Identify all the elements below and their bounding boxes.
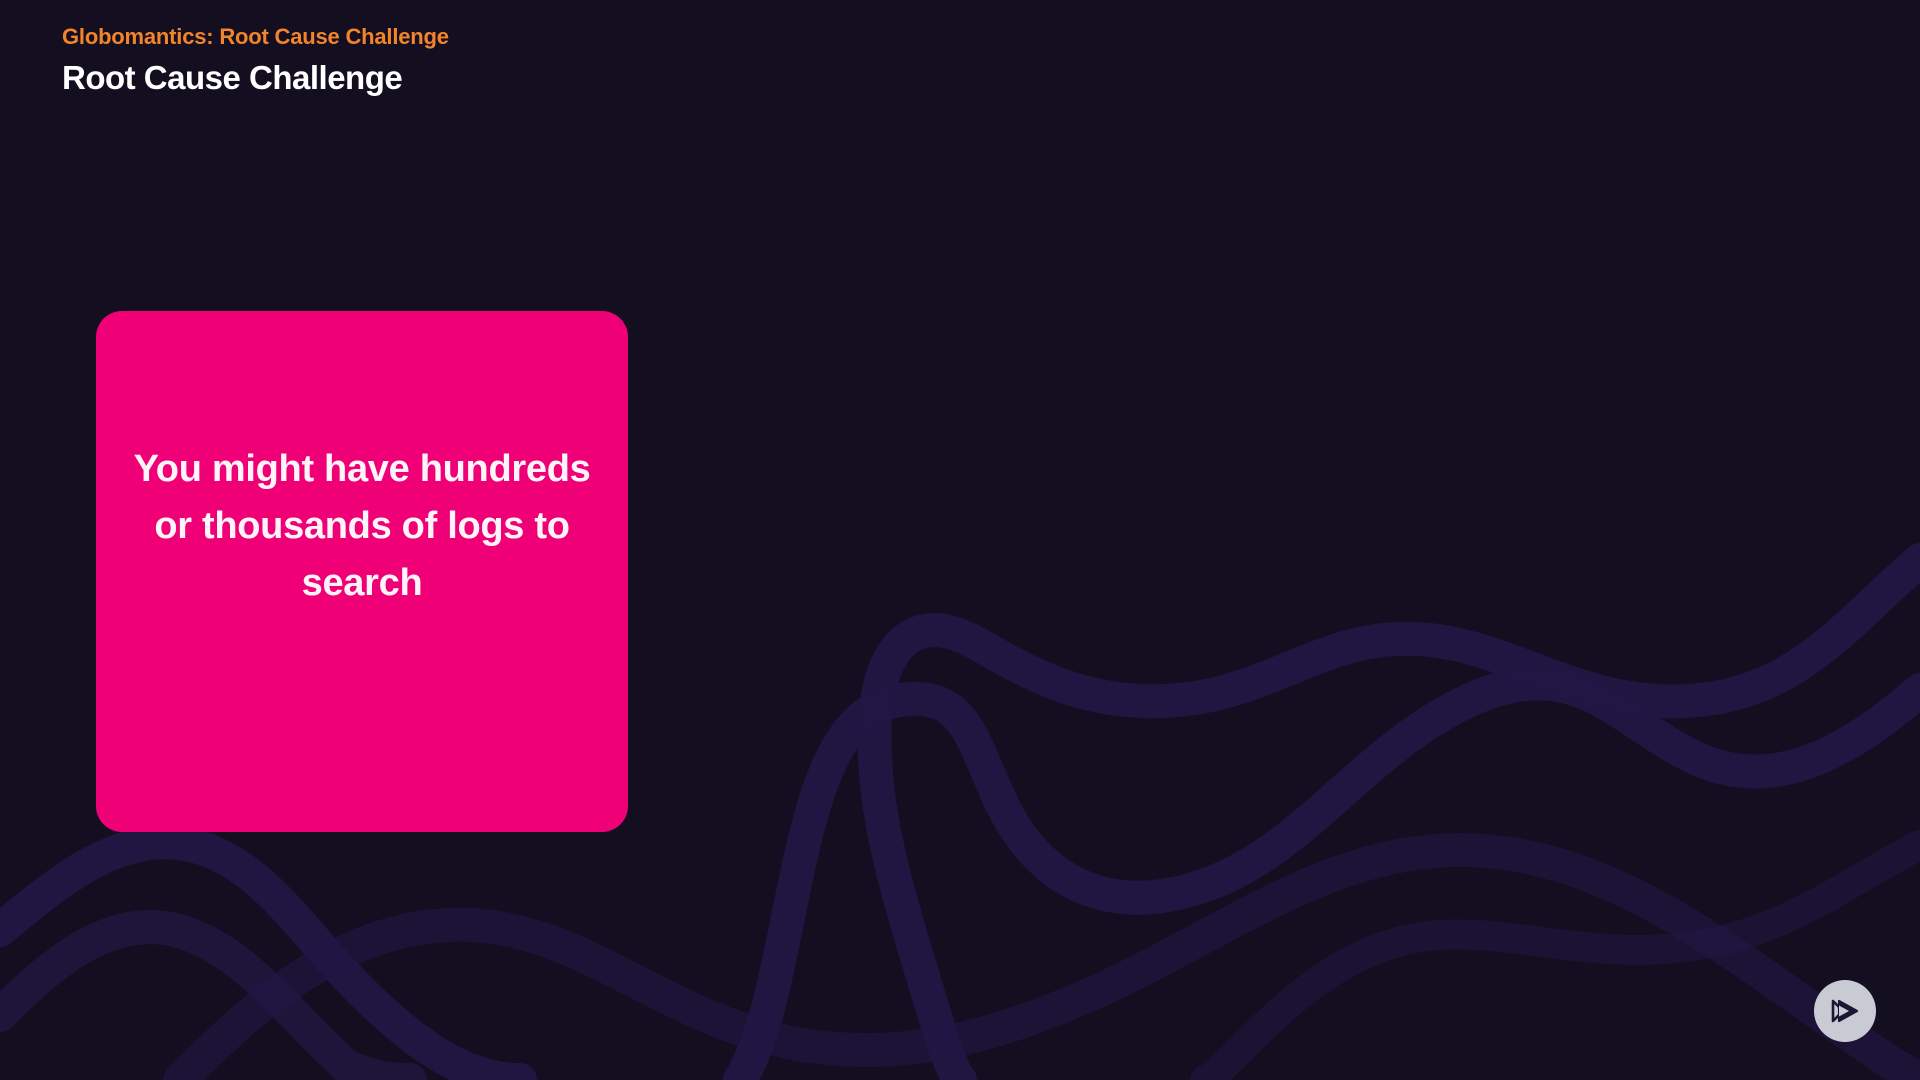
- wave-line-5: [180, 850, 1920, 1080]
- wave-line-4: [0, 927, 410, 1080]
- wave-line-6: [1205, 845, 1920, 1080]
- wave-line-3: [0, 842, 520, 1080]
- wave-line-1: [740, 683, 1920, 1080]
- pluralsight-play-logo-icon: [1825, 991, 1865, 1031]
- pluralsight-logo-badge[interactable]: [1814, 980, 1876, 1042]
- course-breadcrumb: Globomantics: Root Cause Challenge: [62, 22, 449, 52]
- wave-line-2: [874, 560, 1920, 1080]
- page-header: Globomantics: Root Cause Challenge Root …: [62, 22, 449, 100]
- page-title: Root Cause Challenge: [62, 56, 449, 100]
- highlight-card-text: You might have hundreds or thousands of …: [127, 441, 597, 612]
- highlight-card: You might have hundreds or thousands of …: [96, 311, 628, 832]
